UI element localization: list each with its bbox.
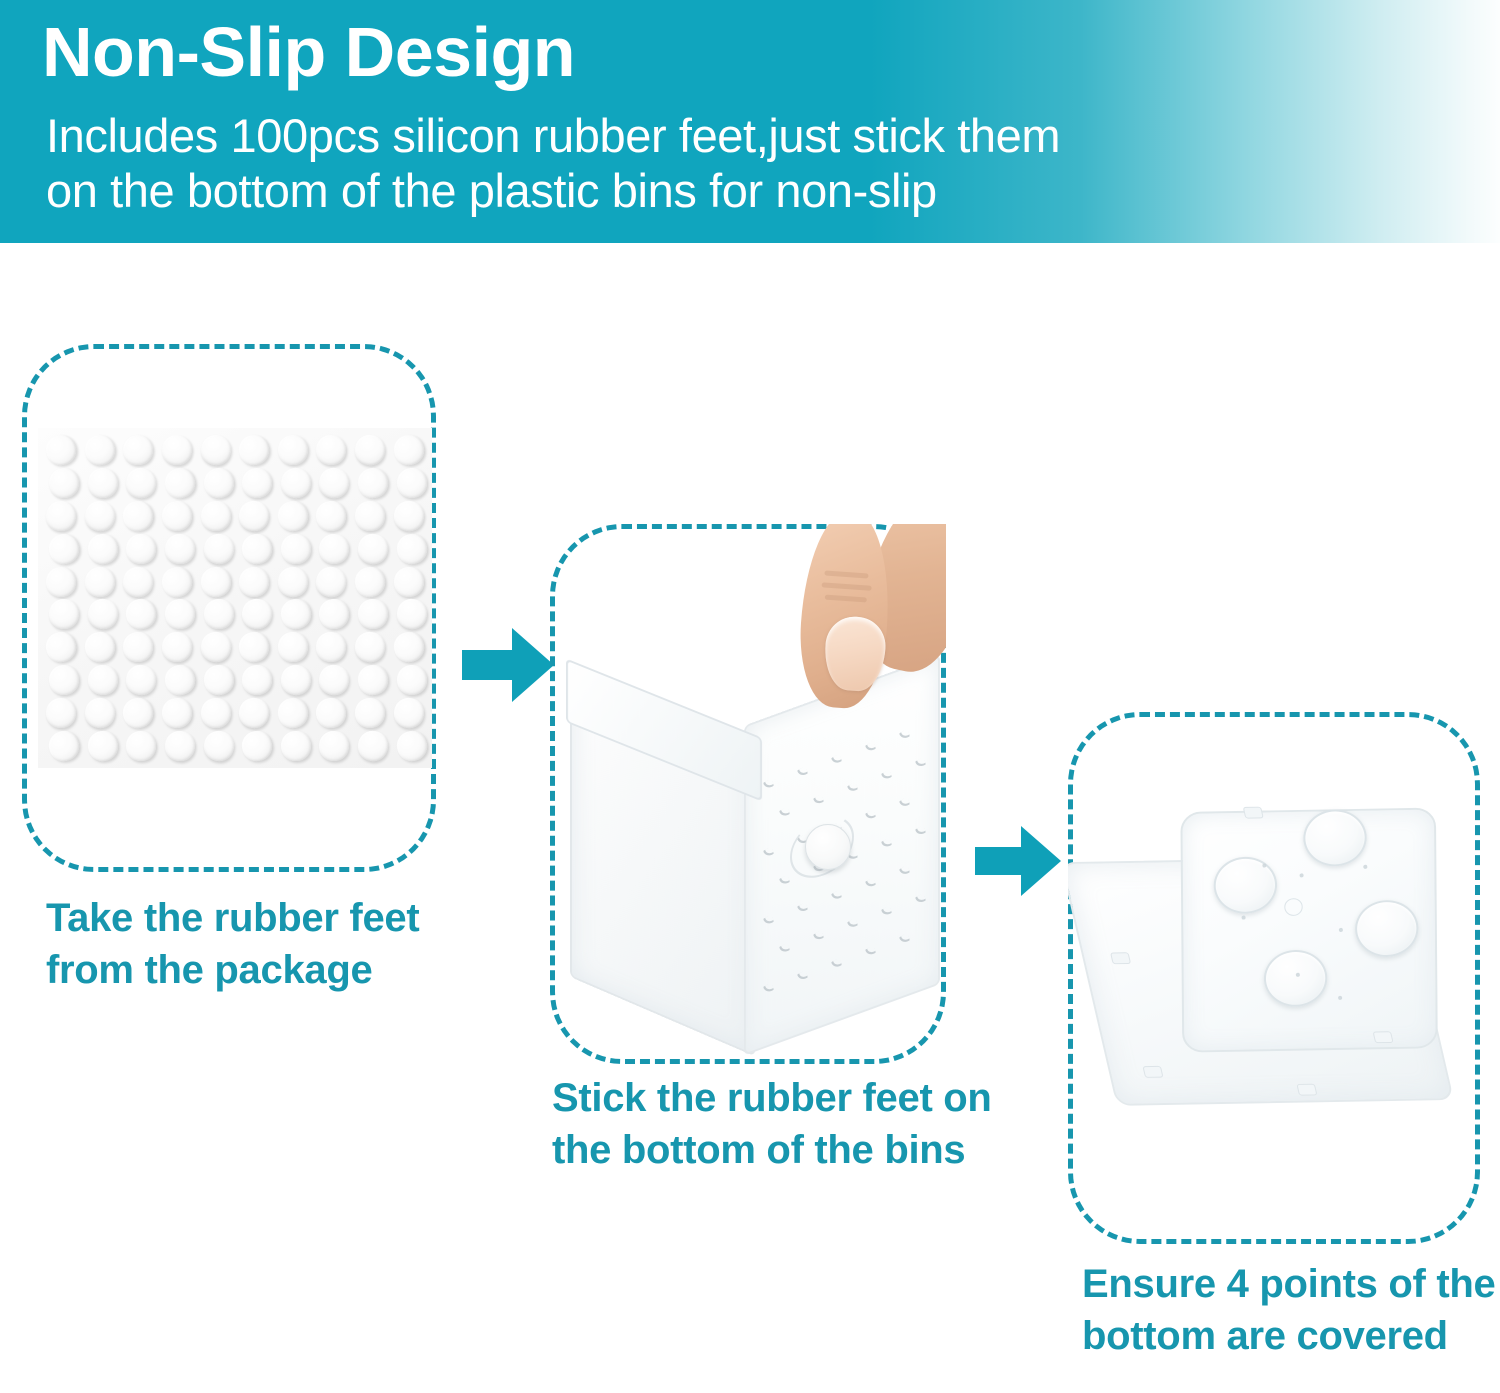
bin-texture-ridge: [797, 901, 808, 914]
rubber-foot-dot: [318, 598, 351, 631]
bin-texture-ridge: [915, 756, 926, 769]
bin-texture-ridge: [831, 957, 842, 970]
bin-texture-ridge: [865, 741, 876, 754]
bin-texture-ridge: [831, 889, 842, 902]
rubber-foot-dot: [201, 531, 237, 567]
rubber-foot-dot: [123, 435, 154, 466]
rubber-foot-dot: [358, 599, 389, 630]
step-1-caption: Take the rubber feet from the package: [46, 892, 446, 996]
rubber-foot-dot: [275, 695, 311, 731]
header-subtitle: Includes 100pcs silicon rubber feet,just…: [46, 108, 1060, 219]
rubber-foot-dot: [164, 598, 196, 630]
inverted-clear-bin: [1068, 741, 1480, 1216]
bin-corner-clip: [1142, 1066, 1163, 1078]
header-subtitle-line-1: Includes 100pcs silicon rubber feet,just…: [46, 108, 1060, 163]
rubber-foot-dot: [203, 599, 235, 631]
rubber-foot-dot: [124, 663, 158, 697]
rubber-foot-dot: [280, 533, 312, 565]
fingernail: [822, 615, 887, 693]
rubber-foot-dot: [200, 697, 232, 729]
rubber-foot-dot: [121, 564, 155, 598]
bin-texture-ridge: [763, 914, 774, 927]
rubber-foot-being-applied: [805, 824, 851, 870]
rubber-foot-dot: [356, 466, 390, 500]
bin-corner-clip: [1243, 807, 1264, 819]
rubber-foot-dot: [396, 468, 427, 499]
bin-texture-ridge: [763, 982, 774, 995]
rubber-foot-dot: [356, 663, 390, 697]
rubber-foot-dot: [45, 500, 78, 533]
rubber-foot-dot: [164, 729, 197, 762]
rubber-foot-dot: [200, 500, 232, 532]
bin-texture-ridge: [779, 942, 790, 955]
rubber-foot-dot: [237, 695, 272, 730]
header-subtitle-line-2: on the bottom of the plastic bins for no…: [46, 163, 1060, 218]
rubber-foot-dot: [159, 563, 195, 599]
bin-bottom-with-feet-image: [1068, 712, 1480, 1244]
bin-texture-ridge: [797, 969, 808, 982]
rubber-foot-dot: [82, 498, 118, 534]
header-banner: Non-Slip Design Includes 100pcs silicon …: [0, 0, 1500, 243]
rubber-foot-dot: [356, 728, 391, 763]
rubber-foot-dot: [123, 632, 154, 663]
rubber-foot-dot: [355, 698, 386, 729]
rubber-foot-dot: [237, 433, 272, 468]
bin-corner-clip: [1110, 952, 1131, 964]
rubber-foot-dot: [85, 597, 121, 633]
bin-texture-ridge: [899, 864, 910, 877]
rubber-foot-dot: [240, 597, 275, 632]
rubber-foot-dot: [239, 567, 269, 597]
page-title: Non-Slip Design: [42, 16, 575, 90]
bin-texture-ridge: [899, 728, 910, 741]
bin-texture-ridge: [881, 769, 892, 782]
bin-texture-ridge: [915, 824, 926, 837]
rubber-foot-dot: [395, 597, 429, 631]
rubber-foot-dot: [277, 435, 309, 467]
rubber-foot-dot: [315, 696, 348, 729]
rubber-foot-dot: [279, 466, 312, 499]
bin-texture-ridge: [915, 892, 926, 905]
rubber-foot-dot: [46, 727, 83, 764]
rubber-foot-dot: [355, 501, 386, 532]
rubber-foot-dot: [315, 499, 348, 532]
rubber-foot-dot: [277, 631, 309, 663]
bin-texture-ridge: [831, 753, 842, 766]
bin-texture-ridge: [813, 794, 824, 807]
rubber-foot-dot: [164, 532, 197, 565]
knuckle-crease: [824, 570, 868, 578]
hand-and-bin-image: [550, 524, 946, 1064]
rubber-foot-dot: [82, 695, 118, 731]
rubber-foot-dot: [86, 729, 120, 763]
bin-texture-ridge: [847, 781, 858, 794]
rubber-foot-dot: [316, 662, 352, 698]
rubber-foot-dot: [198, 629, 234, 665]
rubber-foot-dot: [86, 532, 120, 566]
step-2-caption: Stick the rubber feet on the bottom of t…: [552, 1072, 1002, 1176]
rubber-foot-dot: [275, 498, 311, 534]
rubber-foot-dot: [242, 665, 272, 695]
bin-texture-ridge: [865, 809, 876, 822]
rubber-feet-sheet-image: [38, 428, 432, 768]
bin-texture-ridge: [865, 945, 876, 958]
rubber-foot-dot: [202, 466, 235, 499]
bin-corner-clip: [1373, 1031, 1394, 1043]
rubber-foot-dot: [45, 565, 78, 598]
bin-texture-ridge: [865, 877, 876, 890]
rubber-foot-dot: [278, 596, 314, 632]
rubber-foot-dot: [161, 697, 193, 729]
rubber-foot-dot: [48, 598, 81, 631]
rubber-foot-dot: [242, 468, 272, 498]
rubber-foot-dot: [201, 728, 237, 764]
rubber-foot-dot: [124, 466, 158, 500]
rubber-foot-dot: [48, 467, 81, 500]
rubber-foot-dot: [161, 631, 194, 664]
bin-texture-ridge: [779, 874, 790, 887]
rubber-foot-dot: [315, 631, 347, 663]
rubber-foot-dot: [280, 730, 312, 762]
bin-texture-ridge: [779, 806, 790, 819]
tilted-clear-bin: [562, 672, 932, 1044]
bin-texture-ridge: [813, 930, 824, 943]
rubber-foot-dot: [126, 534, 157, 565]
bin-corner-clip: [1296, 1084, 1317, 1096]
bin-texture-ridge: [763, 778, 774, 791]
rubber-foot-dot: [240, 531, 275, 566]
rubber-foot-dot: [121, 498, 156, 533]
rubber-foot-dot: [353, 433, 388, 468]
rubber-foot-dot: [161, 500, 193, 532]
rubber-foot-dot: [84, 566, 115, 597]
bin-texture-ridge: [881, 905, 892, 918]
index-finger: [795, 524, 894, 711]
rubber-foot-dot: [202, 663, 235, 696]
rubber-foot-dot: [48, 664, 81, 697]
rubber-foot-dot: [353, 564, 387, 598]
rubber-foot-dot: [46, 530, 83, 567]
rubber-foot-dot: [394, 531, 430, 567]
hand-graphic: [788, 530, 946, 720]
bin-texture-ridge: [881, 837, 892, 850]
rubber-foot-dot: [43, 629, 80, 666]
rubber-foot-dot: [313, 563, 349, 599]
bin-texture-ridge: [797, 765, 808, 778]
rubber-foot-dot: [315, 434, 347, 466]
rubber-foot-dot: [198, 432, 234, 468]
rubber-foot-dot: [237, 630, 272, 665]
rubber-foot-dot: [279, 663, 312, 696]
rubber-foot-dot: [392, 499, 426, 533]
bin-texture-ridge: [899, 932, 910, 945]
rubber-foot-dot: [276, 565, 309, 598]
bin-texture-ridge: [763, 846, 774, 859]
rubber-foot-dot: [162, 465, 198, 501]
rubber-foot-dot: [240, 728, 275, 763]
rubber-foot-dot: [162, 662, 198, 698]
rubber-foot-dot: [126, 730, 157, 761]
knuckle-crease: [825, 595, 867, 603]
arrow-right-icon-2: [975, 826, 1061, 901]
rubber-foot-dot: [318, 730, 350, 762]
rubber-foot-dot: [393, 566, 424, 597]
step-3-caption: Ensure 4 points of the bottom are covere…: [1082, 1258, 1500, 1362]
rubber-foot-dot: [83, 433, 117, 467]
rubber-foot-dot: [237, 499, 272, 534]
rubber-foot-dot: [83, 630, 117, 664]
rubber-foot-dot: [161, 434, 194, 467]
rubber-foot-dot: [392, 696, 426, 730]
rubber-foot-dot: [199, 565, 232, 598]
rubber-foot-dot: [121, 695, 156, 730]
bin-texture-ridge: [899, 796, 910, 809]
rubber-foot-dot: [356, 531, 391, 566]
rubber-foot-dot: [353, 630, 388, 665]
rubber-foot-dot: [316, 465, 352, 501]
bin-texture-ridge: [847, 917, 858, 930]
knuckle-crease: [822, 582, 872, 590]
rubber-foot-dot: [43, 432, 80, 469]
rubber-foot-dot: [396, 664, 427, 695]
rubber-foot-dot: [391, 629, 427, 665]
rubber-foot-dot: [87, 664, 118, 695]
rubber-foot-dot: [318, 533, 350, 565]
rubber-foot-dot: [87, 468, 118, 499]
rubber-foot-dot: [124, 597, 159, 632]
rubber-foot-dot: [391, 433, 427, 469]
rubber-foot-dot: [394, 728, 430, 764]
arrow-right-icon-1: [462, 628, 554, 707]
rubber-foot-dot: [45, 697, 78, 730]
